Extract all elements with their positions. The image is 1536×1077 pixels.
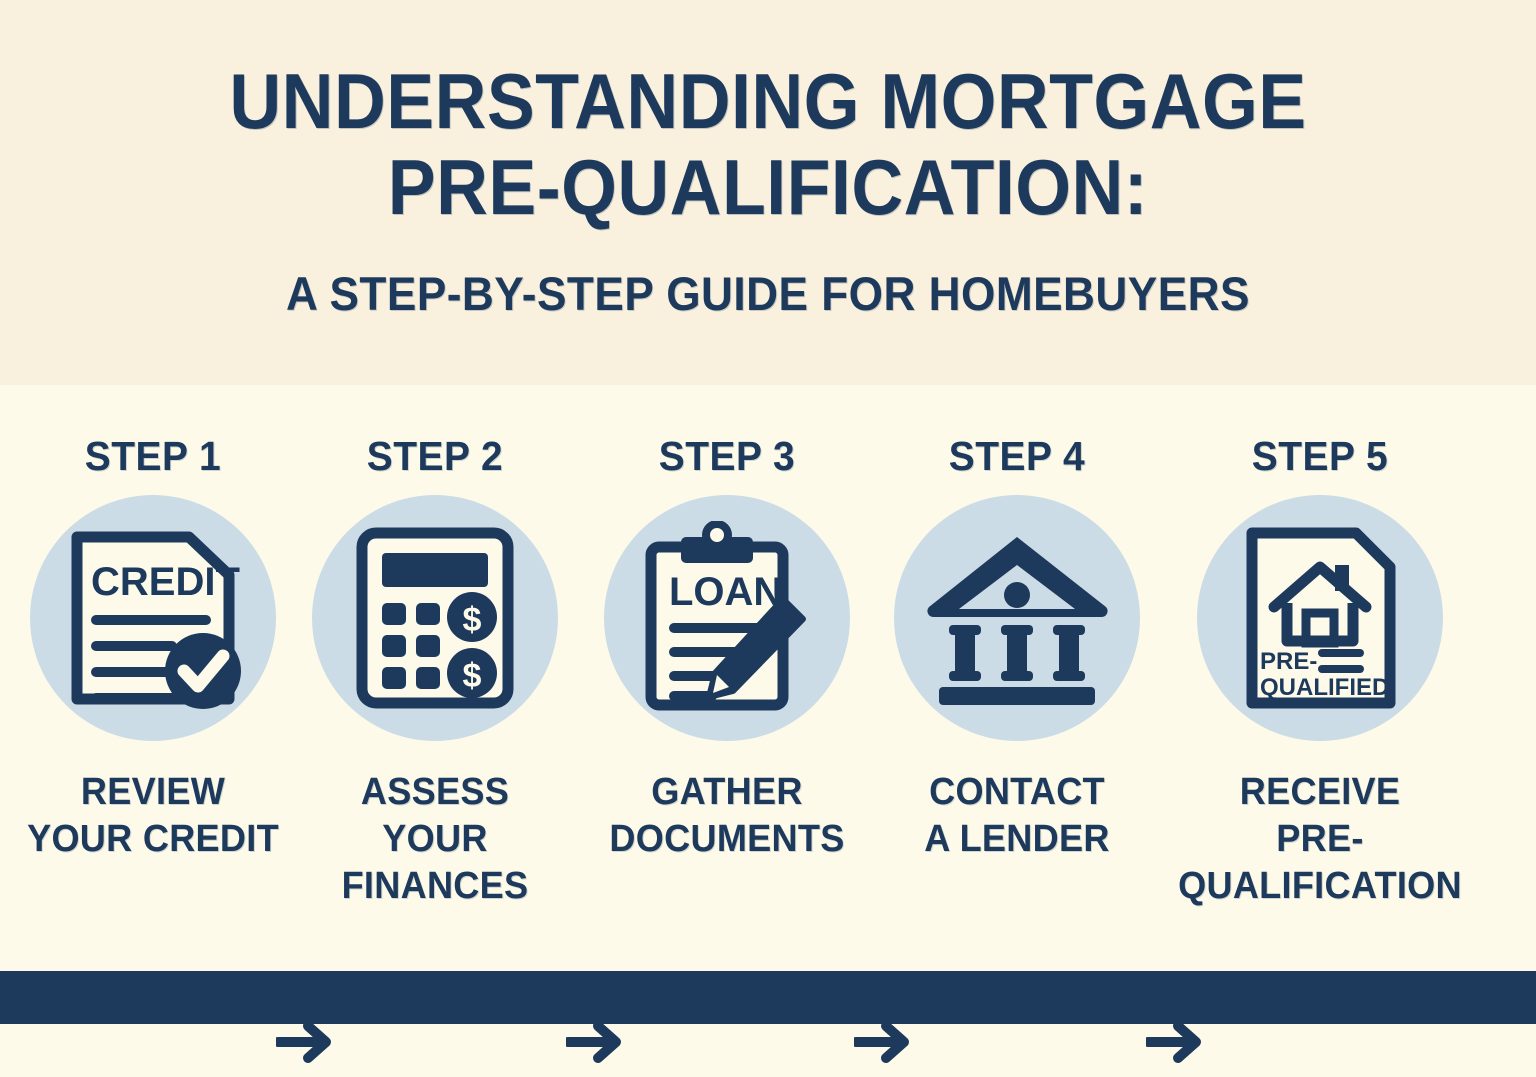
step-1-icon-circle: CREDIT bbox=[30, 495, 276, 741]
step-4-icon-circle bbox=[894, 495, 1140, 741]
step-2-label: ASSESS YOUR FINANCES bbox=[297, 769, 573, 910]
calculator-with-coins-icon: $ $ bbox=[350, 523, 520, 713]
page-subtitle: A STEP-BY-STEP GUIDE FOR HOMEBUYERS bbox=[46, 266, 1490, 322]
header-band: UNDERSTANDING MORTGAGE PRE-QUALIFICATION… bbox=[0, 0, 1536, 385]
svg-text:QUALIFIED: QUALIFIED bbox=[1260, 674, 1389, 701]
bank-building-icon bbox=[925, 531, 1110, 706]
step-5-label: RECEIVE PRE-QUALIFICATION bbox=[1163, 769, 1477, 910]
step-4[interactable]: STEP 4 CONTACT A LE bbox=[872, 400, 1162, 863]
step-4-label: CONTACT A LENDER bbox=[879, 769, 1155, 863]
step-5-number: STEP 5 bbox=[1182, 434, 1458, 478]
page-title-line-1: UNDERSTANDING MORTGAGE bbox=[61, 58, 1474, 144]
infographic-canvas: UNDERSTANDING MORTGAGE PRE-QUALIFICATION… bbox=[0, 0, 1536, 1024]
step-2[interactable]: STEP 2 $ $ ASSESS YOUR FINANCES bbox=[290, 400, 580, 910]
step-1[interactable]: STEP 1 CREDIT REVIEW YOUR CREDIT bbox=[8, 400, 298, 863]
svg-text:CREDIT: CREDIT bbox=[91, 560, 240, 604]
step-4-number: STEP 4 bbox=[879, 434, 1155, 478]
footer-bar bbox=[0, 971, 1536, 1024]
pre-qualified-house-document-icon: PRE- QUALIFIED bbox=[1240, 523, 1400, 713]
step-5[interactable]: STEP 5 PRE- QUALIFIED RECEIVE PRE-Q bbox=[1175, 400, 1465, 910]
step-2-number: STEP 2 bbox=[297, 434, 573, 478]
step-3-label: GATHER DOCUMENTS bbox=[589, 769, 865, 863]
step-3-icon-circle: LOAN bbox=[604, 495, 850, 741]
loan-clipboard-with-pencil-icon: LOAN bbox=[637, 521, 817, 716]
svg-text:$: $ bbox=[463, 601, 482, 639]
step-3[interactable]: STEP 3 LOAN GATHER DOCUMENT bbox=[582, 400, 872, 863]
credit-report-document-icon: CREDIT bbox=[63, 523, 243, 713]
step-5-icon-circle: PRE- QUALIFIED bbox=[1197, 495, 1443, 741]
step-1-number: STEP 1 bbox=[15, 434, 291, 478]
svg-text:LOAN: LOAN bbox=[669, 570, 782, 614]
step-1-label: REVIEW YOUR CREDIT bbox=[15, 769, 291, 863]
step-3-number: STEP 3 bbox=[589, 434, 865, 478]
svg-text:$: $ bbox=[463, 657, 482, 695]
page-title-line-2: PRE-QUALIFICATION: bbox=[61, 144, 1474, 230]
steps-row: STEP 1 CREDIT REVIEW YOUR CREDIT STEP 2 bbox=[0, 400, 1536, 960]
title-block: UNDERSTANDING MORTGAGE PRE-QUALIFICATION… bbox=[0, 58, 1536, 322]
svg-text:PRE-: PRE- bbox=[1260, 648, 1317, 675]
step-2-icon-circle: $ $ bbox=[312, 495, 558, 741]
